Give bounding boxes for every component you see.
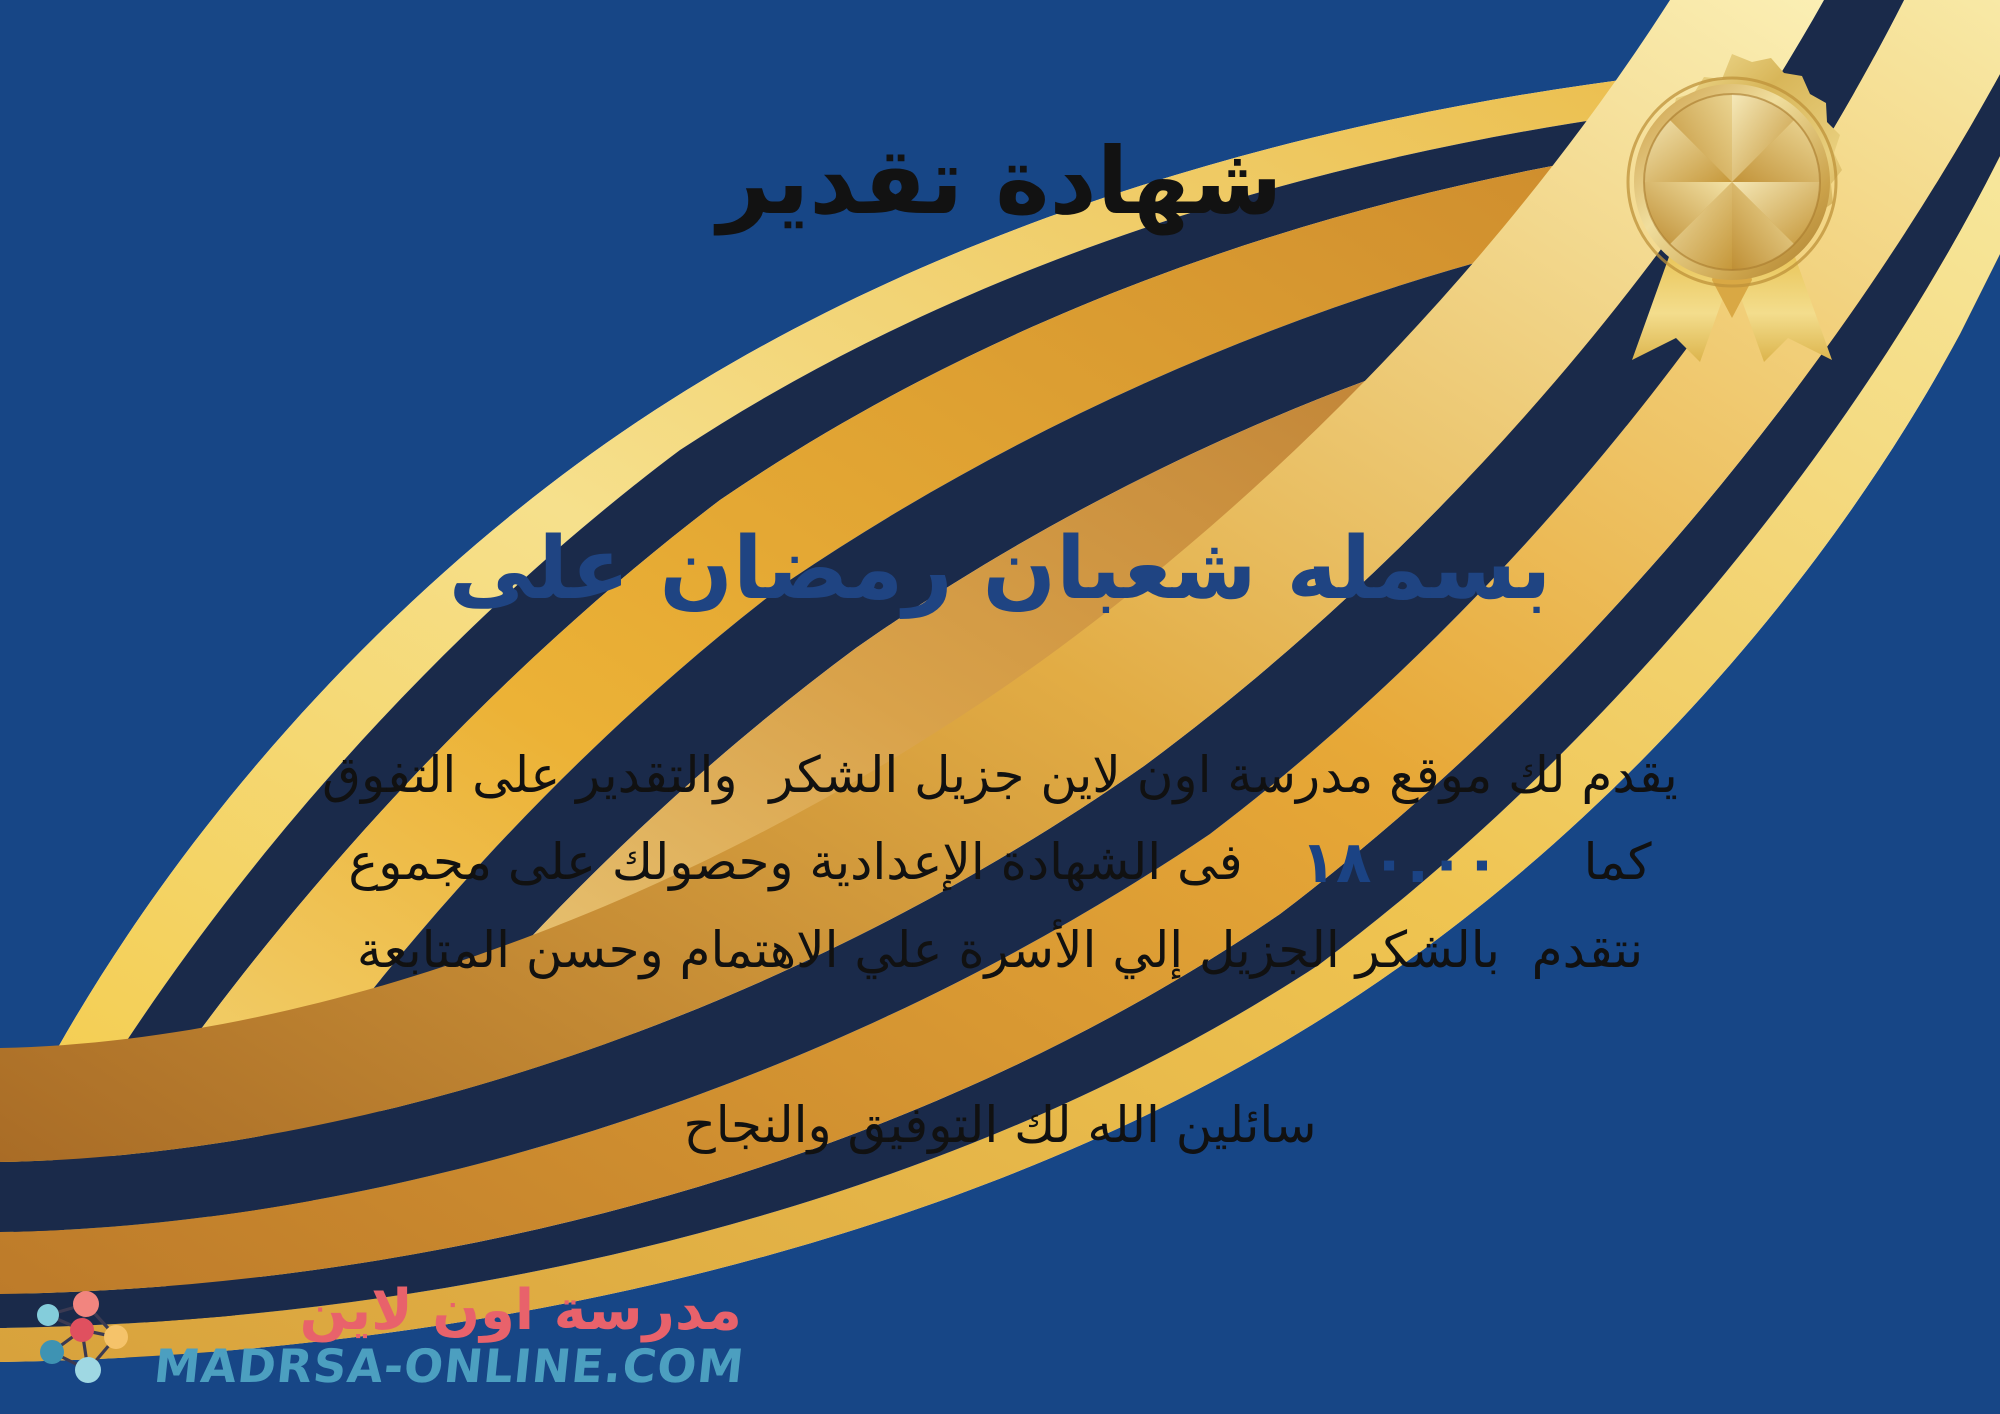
body-line-2: كما ١٨٠.٠٠ فى الشهادة الإعدادية وحصولك ع…	[60, 816, 1940, 910]
brand-domain: MADRSA-ONLINE.COM	[152, 1343, 747, 1389]
certificate-content: شهادة تقدير بسمله شعبان رمضان على يقدم ل…	[0, 0, 2000, 1414]
brand-name-arabic: مدرسة اون لاين	[300, 1283, 742, 1339]
closing-line: سائلين الله لك التوفيق والنجاح	[0, 1088, 2000, 1163]
body-line-1: يقدم لك موقع مدرسة اون لاين جزيل الشكر و…	[60, 735, 1940, 816]
body-line-3: نتقدم بالشكر الجزيل إلي الأسرة علي الاهت…	[60, 910, 1940, 991]
recipient-name: بسمله شعبان رمضان على	[0, 520, 2000, 619]
page-title: شهادة تقدير	[0, 130, 2000, 233]
body-line-2-suffix: كما	[1584, 822, 1652, 903]
certificate-body: يقدم لك موقع مدرسة اون لاين جزيل الشكر و…	[60, 735, 1940, 991]
brand-logo-text: مدرسة اون لاين MADRSA-ONLINE.COM	[152, 1283, 742, 1389]
total-score-value: ١٨٠.٠٠	[1301, 816, 1500, 910]
brand-logo[interactable]: مدرسة اون لاين MADRSA-ONLINE.COM	[30, 1282, 742, 1390]
body-line-2-prefix: فى الشهادة الإعدادية وحصولك على مجموع	[348, 822, 1242, 903]
certificate-canvas: شهادة تقدير بسمله شعبان رمضان على يقدم ل…	[0, 0, 2000, 1414]
network-nodes-logo-icon	[30, 1282, 138, 1390]
